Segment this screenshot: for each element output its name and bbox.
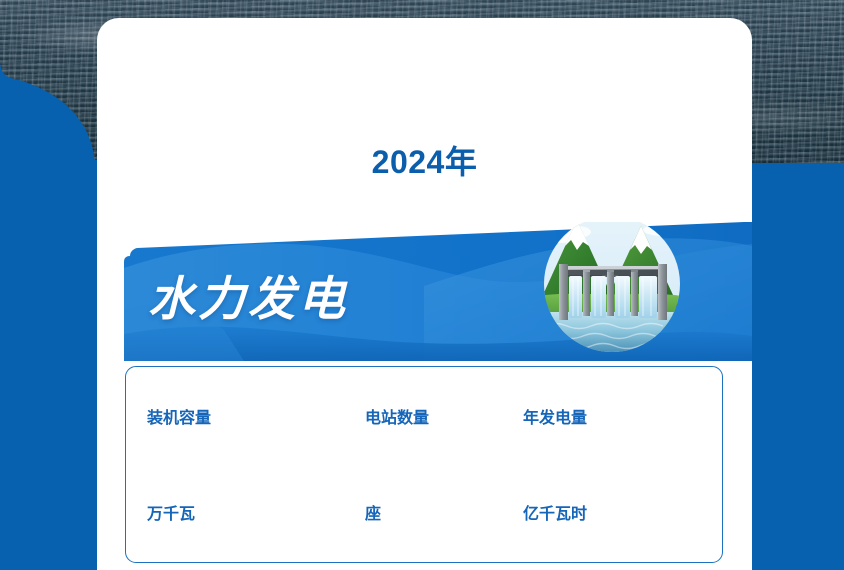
statistics-panel: 装机容量 电站数量 年发电量 万千瓦 座 亿千瓦时	[125, 366, 723, 563]
poster-stage: 2024年	[0, 0, 844, 570]
stat-label-station-count: 电站数量	[365, 408, 429, 430]
stat-unit-annual-generation: 亿千瓦时	[523, 504, 587, 526]
hero-banner: 水力发电	[124, 222, 752, 361]
left-blue-gutter	[0, 160, 97, 570]
page-title: 2024年	[97, 142, 752, 182]
stat-label-annual-generation: 年发电量	[523, 408, 587, 430]
hydroelectric-dam-illustration	[525, 222, 700, 361]
stat-unit-installed-capacity: 万千瓦	[147, 504, 195, 526]
banner-title: 水力发电	[148, 270, 348, 328]
stat-label-installed-capacity: 装机容量	[147, 408, 211, 430]
stat-unit-station-count: 座	[365, 504, 381, 526]
content-card: 2024年	[97, 18, 752, 570]
right-blue-gutter	[752, 163, 844, 570]
